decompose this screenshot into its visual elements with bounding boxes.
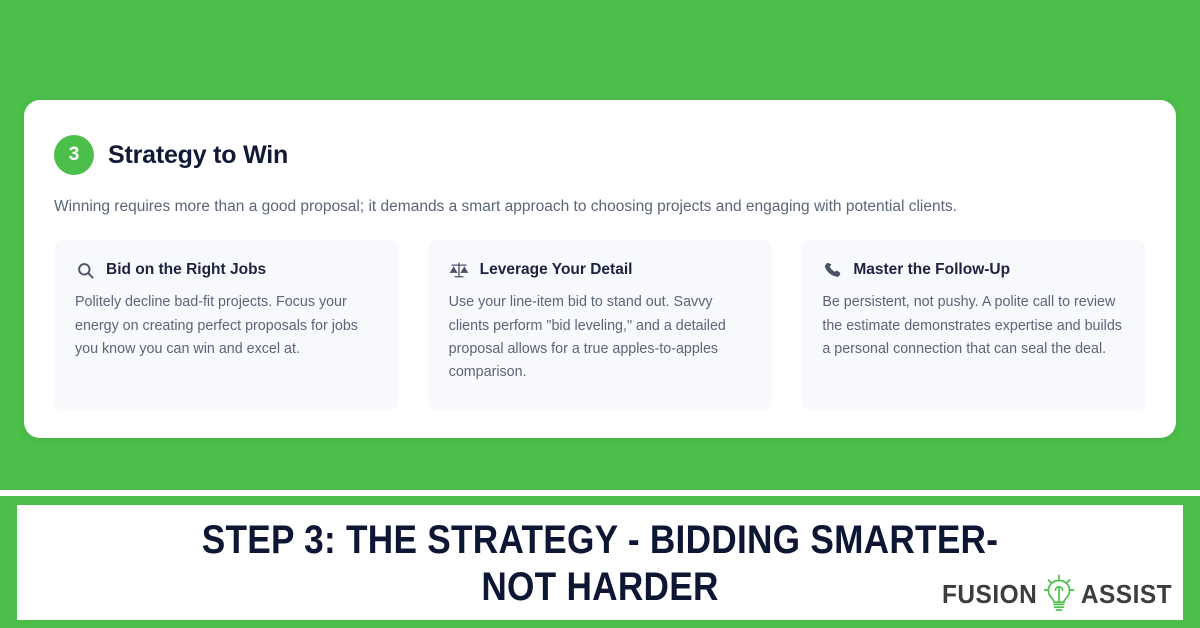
feature-card-title: Master the Follow-Up	[853, 261, 1010, 279]
feature-card-master-the-follow-up: Master the Follow-Up Be persistent, not …	[801, 240, 1146, 410]
bottom-banner-zone: STEP 3: THE STRATEGY - BIDDING SMARTER- …	[0, 496, 1200, 628]
bottom-banner: STEP 3: THE STRATEGY - BIDDING SMARTER- …	[17, 505, 1183, 620]
fusion-assist-logo: FUSION	[939, 574, 1175, 614]
feature-card-bid-on-the-right-jobs: Bid on the Right Jobs Politely decline b…	[54, 240, 399, 410]
page-title: Strategy to Win	[108, 141, 288, 170]
phone-icon	[822, 260, 842, 280]
feature-card-title: Bid on the Right Jobs	[106, 261, 266, 279]
logo-word-left: FUSION	[942, 579, 1037, 610]
feature-card-header: Bid on the Right Jobs	[75, 260, 378, 280]
content-card: 3 Strategy to Win Winning requires more …	[24, 100, 1176, 438]
lightbulb-icon	[1042, 574, 1076, 614]
green-background-stage: 3 Strategy to Win Winning requires more …	[0, 0, 1200, 490]
feature-card-body: Be persistent, not pushy. A polite call …	[822, 291, 1125, 360]
feature-card-header: Leverage Your Detail	[449, 260, 752, 280]
card-header: 3 Strategy to Win	[54, 132, 1146, 178]
feature-card-leverage-your-detail: Leverage Your Detail Use your line-item …	[428, 240, 773, 410]
logo-word-right: ASSIST	[1081, 579, 1172, 610]
search-icon	[75, 260, 95, 280]
feature-card-header: Master the Follow-Up	[822, 260, 1125, 280]
feature-card-title: Leverage Your Detail	[480, 261, 633, 279]
step-number-badge: 3	[54, 135, 94, 175]
feature-card-body: Politely decline bad-fit projects. Focus…	[75, 291, 378, 360]
feature-card-body: Use your line-item bid to stand out. Sav…	[449, 291, 752, 384]
page-subtitle: Winning requires more than a good propos…	[54, 196, 1146, 218]
balance-scale-icon	[449, 260, 469, 280]
feature-cards-row: Bid on the Right Jobs Politely decline b…	[54, 240, 1146, 410]
